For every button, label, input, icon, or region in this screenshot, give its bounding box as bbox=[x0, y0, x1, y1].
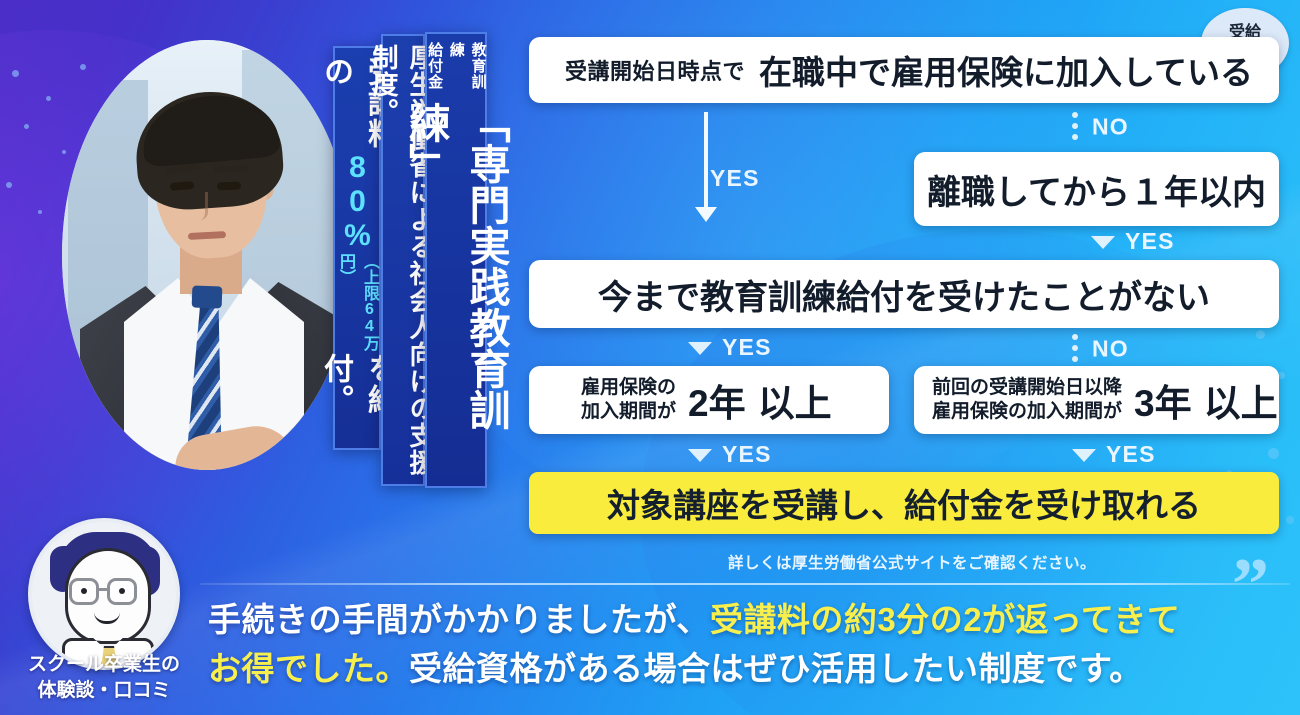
flow-node-3-large: 今まで教育訓練給付を受けたことがない bbox=[598, 270, 1210, 319]
infographic-canvas: 受講料の80%（上限64万円）を給付。 厚生労働省による社会人向けの支援制度。 … bbox=[0, 0, 1300, 715]
testimonial-line2-highlight: お得でした。 bbox=[208, 650, 409, 687]
testimonial-divider bbox=[200, 583, 1290, 585]
testimonial-line-2: お得でした。受給資格がある場合はぜひ活用したい制度です。 bbox=[208, 645, 1268, 694]
flow-label-yes-4-text: YES bbox=[722, 441, 772, 467]
flow-node-no-prior-benefit: 今まで教育訓練給付を受けたことがない bbox=[529, 260, 1279, 328]
triangle-down-icon bbox=[1091, 236, 1115, 249]
flow-node-within-one-year: 離職してから１年以内 bbox=[914, 152, 1279, 226]
flow-node-5-lines: 前回の受講開始日以降 雇用保険の加入期間が bbox=[932, 376, 1122, 425]
banner-program-title: 教育訓練 給付金「専門実践教育訓練」 bbox=[425, 32, 487, 488]
flow-node-6-large: 対象講座を受講し、給付金を受け取れる bbox=[607, 479, 1201, 527]
testimonial-line1-plain: 手続きの手間がかかりましたが、 bbox=[208, 601, 710, 638]
flow-node-4-lines: 雇用保険の 加入期間が bbox=[581, 376, 676, 425]
dotted-connector-icon bbox=[1072, 334, 1078, 367]
instructor-portrait bbox=[62, 40, 352, 470]
decorative-dot bbox=[24, 124, 29, 129]
testimonial-text: 手続きの手間がかかりましたが、受講料の約3分の2が返ってきて お得でした。受給資… bbox=[208, 596, 1268, 694]
flow-node-two-years: 雇用保険の 加入期間が 2年 以上 bbox=[529, 366, 889, 434]
flow-label-yes-4: YES bbox=[688, 441, 772, 468]
portrait-eye-right bbox=[217, 181, 241, 190]
flow-node-result-receive-benefit: 対象講座を受講し、給付金を受け取れる bbox=[529, 472, 1279, 534]
decorative-dot bbox=[6, 182, 12, 188]
flow-node-5-unit: 以上 bbox=[1204, 373, 1278, 427]
testimonial-line1-highlight: 受講料の約3分の2が返ってきて bbox=[710, 601, 1181, 638]
flow-label-yes-3-text: YES bbox=[722, 334, 772, 360]
flow-label-yes-5: YES bbox=[1072, 441, 1156, 468]
flow-label-no-2: NO bbox=[1072, 334, 1129, 367]
flow-node-5-years: 3年 bbox=[1134, 373, 1192, 427]
banner-program-big: 「専門実践教育訓練」 bbox=[396, 102, 516, 486]
flow-node-three-years: 前回の受講開始日以降 雇用保険の加入期間が 3年 以上 bbox=[914, 366, 1279, 434]
decorative-dot bbox=[12, 70, 19, 77]
avatar-caption: スクール卒業生の 体験談・口コミ bbox=[0, 652, 208, 703]
flow-node-4-unit: 以上 bbox=[758, 373, 832, 427]
flow-label-no-2-text: NO bbox=[1092, 336, 1129, 362]
triangle-down-icon bbox=[1072, 449, 1096, 462]
avatar bbox=[28, 518, 180, 670]
flow-label-no-1-text: NO bbox=[1092, 114, 1129, 140]
flow-node-2-large: 離職してから１年以内 bbox=[927, 165, 1266, 214]
flow-node-4-years: 2年 bbox=[688, 373, 746, 427]
testimonial-line-1: 手続きの手間がかかりましたが、受講料の約3分の2が返ってきて bbox=[208, 596, 1268, 645]
flowchart-footnote: 詳しくは厚生労働省公式サイトをご確認ください。 bbox=[524, 551, 1300, 573]
flow-node-1-large: 在職中で雇用保険に加入している bbox=[759, 46, 1253, 94]
flow-arrow-yes-1 bbox=[704, 112, 708, 210]
flow-node-employed-insured: 受講開始日時点で 在職中で雇用保険に加入している bbox=[529, 37, 1279, 103]
flow-arrowhead-yes-1 bbox=[695, 207, 717, 222]
decorative-dot bbox=[46, 96, 51, 101]
banner-program-small: 教育訓練 給付金 bbox=[423, 42, 488, 102]
portrait-tie-knot bbox=[192, 285, 223, 308]
testimonial-line2-plain: 受給資格がある場合はぜひ活用したい制度です。 bbox=[409, 650, 1143, 687]
flow-label-yes-2-text: YES bbox=[1125, 228, 1175, 254]
flow-label-yes-5-text: YES bbox=[1106, 441, 1156, 467]
flow-label-yes-2: YES bbox=[1091, 228, 1175, 255]
flow-label-no-1: NO bbox=[1072, 112, 1129, 145]
flow-node-1-small: 受講開始日時点で bbox=[565, 54, 745, 86]
avatar-eye-right bbox=[119, 588, 125, 594]
eligibility-flowchart: 受講開始日時点で 在職中で雇用保険に加入している YES NO 離職してから１年… bbox=[524, 0, 1300, 580]
avatar-eye-left bbox=[81, 588, 87, 594]
triangle-down-icon bbox=[688, 449, 712, 462]
flow-label-yes-3: YES bbox=[688, 334, 772, 361]
dotted-connector-icon bbox=[1072, 112, 1078, 145]
portrait-nose bbox=[195, 192, 208, 220]
decorative-dot bbox=[38, 210, 42, 214]
avatar-glasses-bridge bbox=[99, 588, 107, 591]
flow-label-yes-1: YES bbox=[710, 165, 760, 192]
triangle-down-icon bbox=[688, 342, 712, 355]
